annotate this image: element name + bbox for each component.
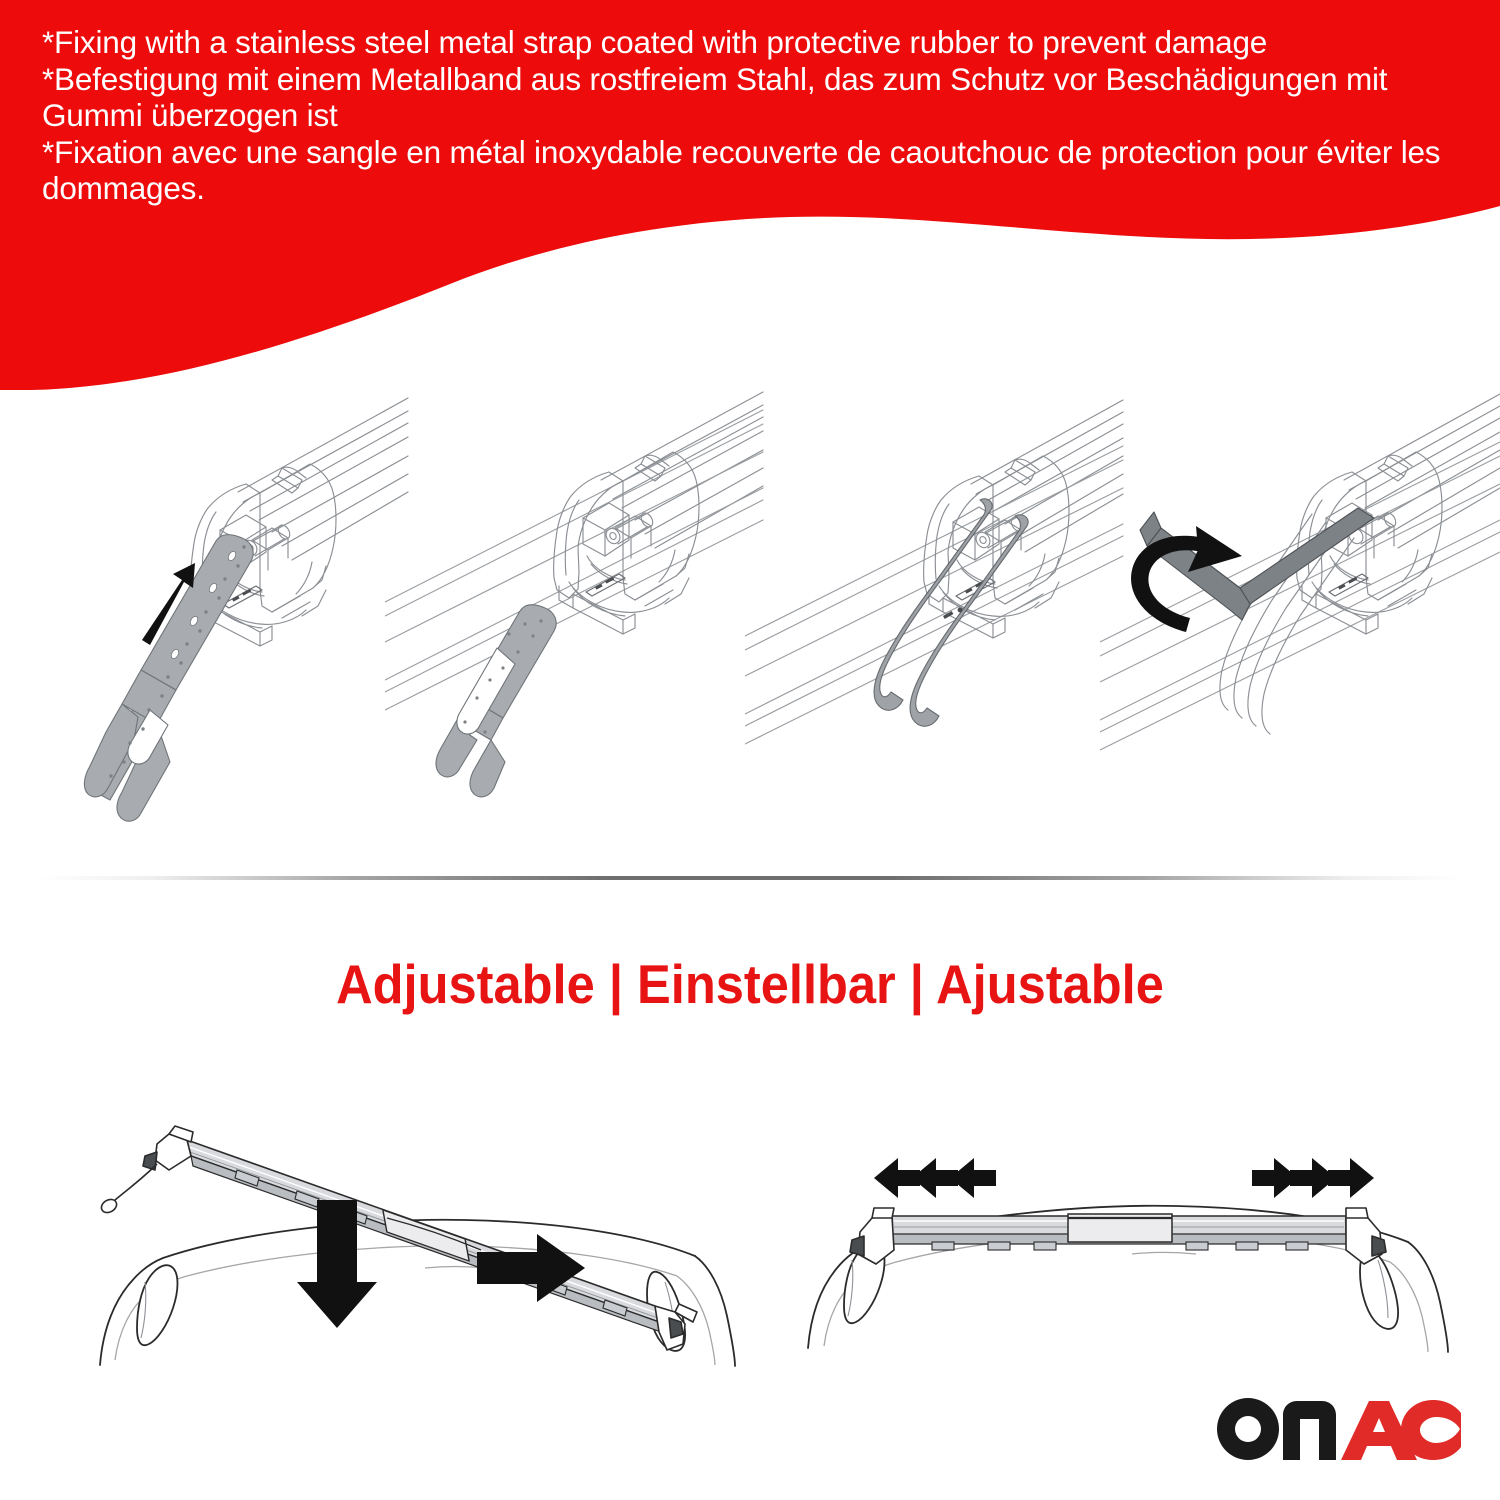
- crossbar-tilted: [99, 1126, 697, 1350]
- omac-logo: [1215, 1393, 1465, 1465]
- left-arrow-triple-icon: [874, 1158, 996, 1198]
- step-2-illustration: [385, 380, 765, 880]
- step-3-drawing: [745, 380, 1125, 880]
- banner-description-text: *Fixing with a stainless steel metal str…: [42, 24, 1462, 207]
- step-3-illustration: [745, 380, 1125, 880]
- step-1-illustration: [10, 380, 410, 880]
- installation-steps-row: [0, 380, 1500, 880]
- crossbar-horizontal: [850, 1208, 1386, 1264]
- section-divider: [40, 876, 1460, 880]
- logo-letter-m: [1283, 1401, 1336, 1460]
- adjustable-headline: Adjustable | Einstellbar | Ajustable: [60, 952, 1440, 1016]
- step-1-drawing: [10, 380, 410, 880]
- step-4-drawing: [1100, 380, 1500, 880]
- fig-install-crossbar: [45, 1060, 765, 1400]
- logo-letter-c: [1401, 1400, 1461, 1460]
- adjustable-figures-row: [0, 1060, 1500, 1400]
- fig-adjust-width-drawing: [780, 1060, 1470, 1400]
- right-arrow-triple-icon: [1252, 1158, 1374, 1198]
- omac-logo-mark: [1215, 1393, 1465, 1465]
- fig-adjust-width: [780, 1060, 1470, 1400]
- step-4-illustration: [1100, 380, 1500, 880]
- logo-letter-o: [1217, 1398, 1279, 1460]
- header-banner: *Fixing with a stainless steel metal str…: [0, 0, 1500, 390]
- step-2-drawing: [385, 380, 765, 880]
- fig-install-crossbar-drawing: [45, 1060, 765, 1400]
